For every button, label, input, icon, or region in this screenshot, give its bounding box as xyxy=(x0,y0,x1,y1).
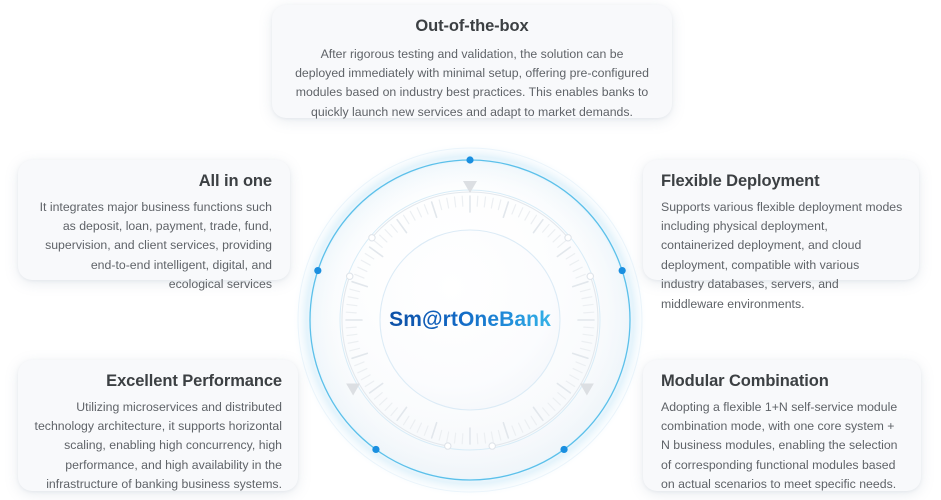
emblem-tick xyxy=(584,312,594,313)
feature-card-body: Adopting a flexible 1+N self-service mod… xyxy=(661,398,905,495)
emblem-node-dot xyxy=(619,267,626,274)
feature-card-title: Modular Combination xyxy=(661,371,905,392)
emblem-tick xyxy=(346,312,356,313)
emblem-inner-circle xyxy=(380,230,560,410)
emblem-tick xyxy=(477,196,478,206)
emblem-node-dot xyxy=(372,446,379,453)
feature-card-title: Out-of-the-box xyxy=(294,16,650,37)
emblem-node-dot xyxy=(466,156,473,163)
feature-card-title: Excellent Performance xyxy=(32,371,282,392)
emblem-tick xyxy=(584,327,594,328)
emblem-arc-endpoint xyxy=(445,443,451,449)
feature-card-out-of-the-box[interactable]: Out-of-the-box After rigorous testing an… xyxy=(272,5,672,118)
emblem-svg xyxy=(290,140,650,500)
emblem-node-dot xyxy=(314,267,321,274)
emblem-tick xyxy=(462,434,463,444)
feature-card-body: After rigorous testing and validation, t… xyxy=(294,45,650,123)
feature-card-body: It integrates major business functions s… xyxy=(34,198,272,295)
emblem-tick xyxy=(462,196,463,206)
feature-card-title: Flexible Deployment xyxy=(661,171,903,192)
emblem-arc-endpoint xyxy=(369,235,375,241)
infographic-canvas: Sm@rtOneBank Out-of-the-box After rigoro… xyxy=(0,0,941,500)
central-emblem xyxy=(290,140,650,500)
emblem-arc-endpoint xyxy=(587,273,593,279)
emblem-arc-endpoint xyxy=(347,273,353,279)
feature-card-title: All in one xyxy=(34,171,272,192)
feature-card-excellent-performance[interactable]: Excellent Performance Utilizing microser… xyxy=(18,360,298,491)
emblem-tick xyxy=(477,434,478,444)
emblem-node-dot xyxy=(560,446,567,453)
feature-card-body: Supports various flexible deployment mod… xyxy=(661,198,903,315)
emblem-tick xyxy=(346,327,356,328)
feature-card-body: Utilizing microservices and distributed … xyxy=(32,398,282,495)
feature-card-modular-combination[interactable]: Modular Combination Adopting a flexible … xyxy=(643,360,921,491)
emblem-arc-endpoint xyxy=(565,235,571,241)
emblem-arc-endpoint xyxy=(489,443,495,449)
feature-card-flexible-deployment[interactable]: Flexible Deployment Supports various fle… xyxy=(643,160,919,280)
feature-card-all-in-one[interactable]: All in one It integrates major business … xyxy=(18,160,290,280)
